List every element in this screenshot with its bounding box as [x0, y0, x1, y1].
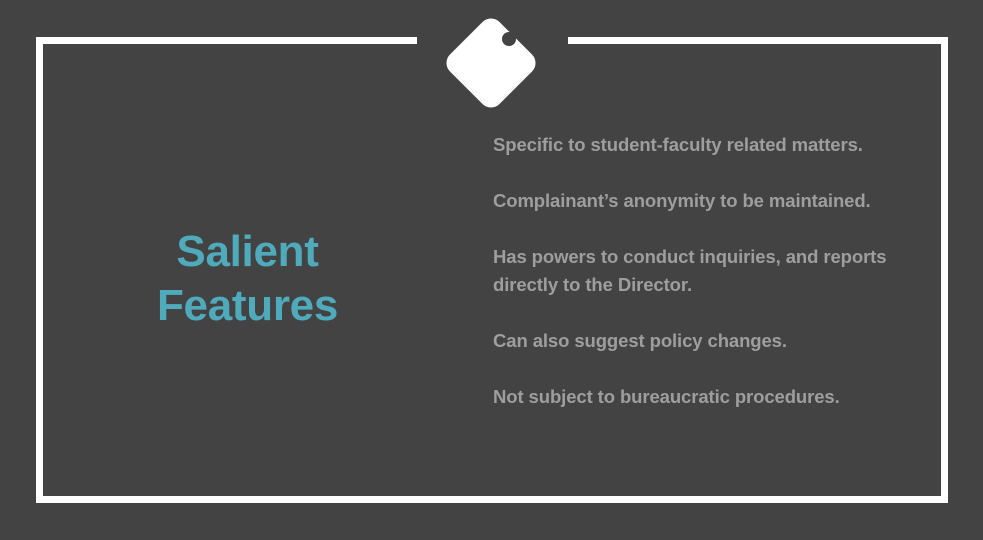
- frame-border-top-left: [36, 37, 417, 44]
- frame-border-top-right: [568, 37, 948, 44]
- list-item: Specific to student-faculty related matt…: [493, 131, 933, 159]
- list-item: Has powers to conduct inquiries, and rep…: [493, 243, 933, 299]
- slide-canvas: Salient Features Specific to student-fac…: [0, 0, 983, 540]
- list-item: Complainant’s anonymity to be maintained…: [493, 187, 933, 215]
- list-item: Not subject to bureaucratic procedures.: [493, 383, 933, 411]
- page-title-line-1: Salient: [60, 225, 435, 279]
- frame-border-right: [941, 37, 948, 503]
- page-title-line-2: Features: [60, 279, 435, 333]
- features-list: Specific to student-faculty related matt…: [493, 131, 933, 411]
- page-title: Salient Features: [60, 225, 435, 333]
- frame-border-bottom: [36, 496, 948, 503]
- frame-border-left: [36, 37, 43, 503]
- tag-icon: [444, 14, 538, 112]
- list-item: Can also suggest policy changes.: [493, 327, 933, 355]
